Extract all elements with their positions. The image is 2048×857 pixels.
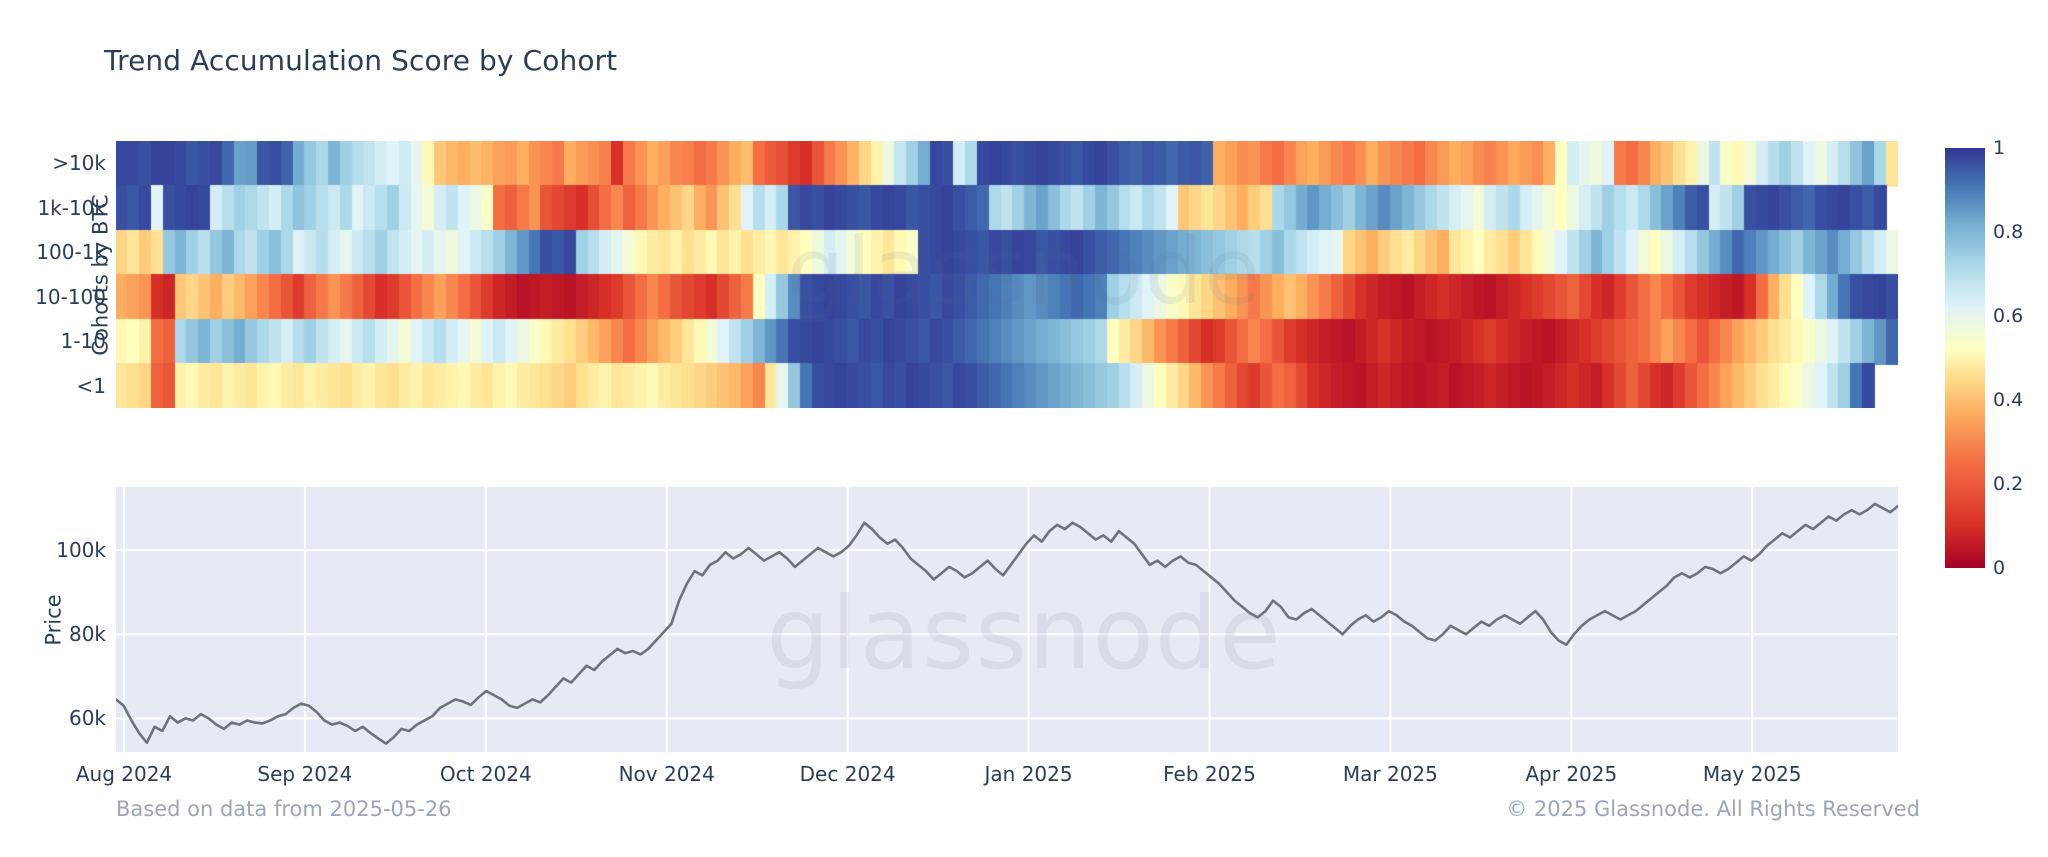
heatmap-y-tick-2: 100-1k	[36, 240, 106, 264]
heatmap-y-tick-1: 1k-10k	[37, 196, 106, 220]
price-x-tick-0: Aug 2024	[76, 762, 172, 786]
price-panel: Price 60k80k100k Aug 2024Sep 2024Oct 202…	[116, 487, 1898, 752]
colorbar-tick-0: 0	[1993, 557, 2005, 579]
colorbar-gradient	[1945, 148, 1985, 568]
heatmap-canvas	[116, 141, 1898, 408]
heatmap-panel: Cohorts by BTC >10k1k-10k100-1k10-1001-1…	[116, 141, 1898, 408]
colorbar-tick-2: 0.4	[1993, 389, 2023, 411]
colorbar-tick-4: 0.8	[1993, 221, 2023, 243]
heatmap-y-tick-4: 1-10	[61, 329, 106, 353]
colorbar-tick-5: 1	[1993, 137, 2005, 159]
colorbar: 00.20.40.60.81	[1945, 148, 1985, 568]
price-x-tick-3: Nov 2024	[619, 762, 715, 786]
price-x-tick-5: Jan 2025	[985, 762, 1073, 786]
price-x-tick-2: Oct 2024	[440, 762, 532, 786]
heatmap-y-tick-0: >10k	[52, 151, 106, 175]
price-x-tick-1: Sep 2024	[257, 762, 352, 786]
price-x-tick-9: May 2025	[1703, 762, 1802, 786]
price-x-tick-4: Dec 2024	[800, 762, 896, 786]
price-line-path	[116, 504, 1898, 744]
price-x-tick-6: Feb 2025	[1163, 762, 1256, 786]
chart-page: Trend Accumulation Score by Cohort Cohor…	[0, 0, 2048, 857]
price-y-tick-2: 100k	[56, 538, 106, 562]
price-y-axis-label: Price	[42, 594, 66, 645]
price-x-tick-8: Apr 2025	[1525, 762, 1617, 786]
price-x-tick-7: Mar 2025	[1343, 762, 1438, 786]
heatmap-y-tick-3: 10-100	[35, 285, 106, 309]
price-y-tick-0: 60k	[69, 706, 106, 730]
price-line-chart	[116, 487, 1898, 752]
footer-data-source: Based on data from 2025-05-26	[116, 797, 452, 821]
colorbar-tick-1: 0.2	[1993, 473, 2023, 495]
price-y-tick-1: 80k	[69, 622, 106, 646]
page-title: Trend Accumulation Score by Cohort	[104, 44, 617, 77]
colorbar-tick-3: 0.6	[1993, 305, 2023, 327]
heatmap-y-tick-5: <1	[77, 374, 106, 398]
footer-copyright: © 2025 Glassnode. All Rights Reserved	[1506, 797, 1920, 821]
